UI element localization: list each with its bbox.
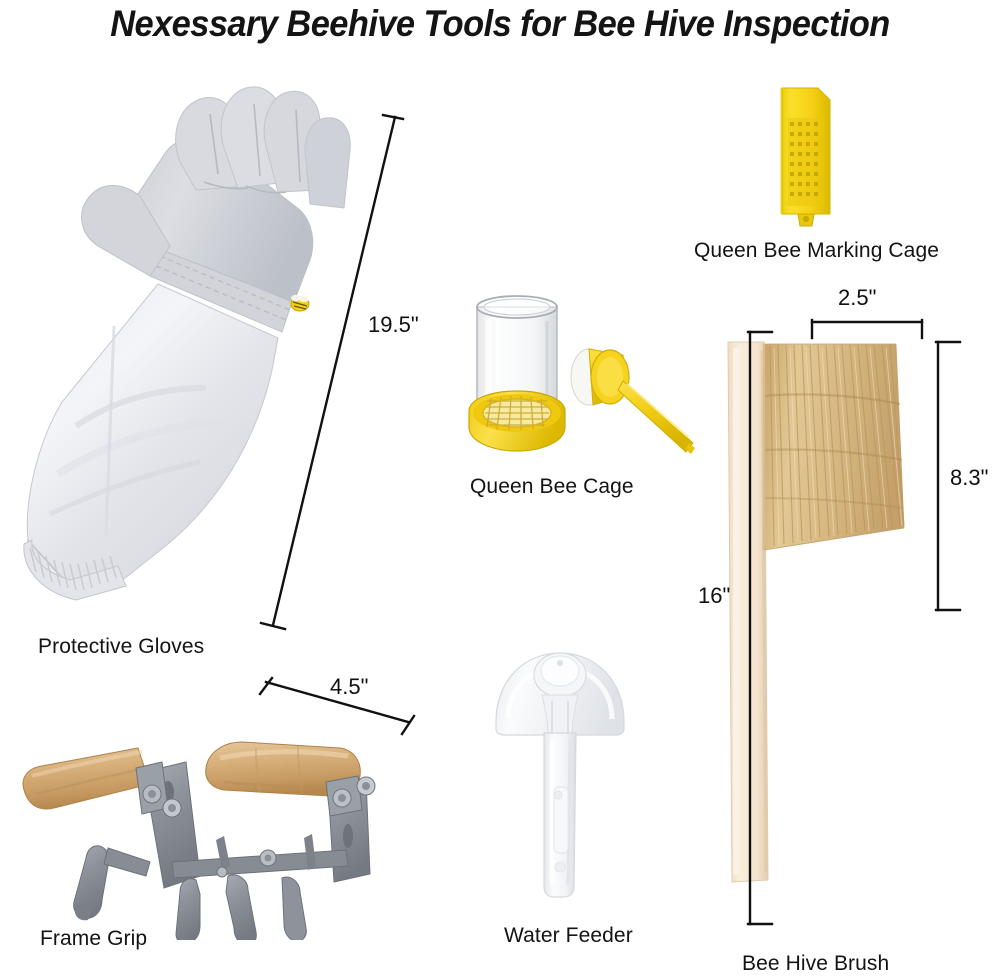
dimension-brush-head-width: 2.5" [838,285,876,311]
label-queen-bee-marking-cage: Queen Bee Marking Cage [694,239,939,263]
label-bee-hive-brush: Bee Hive Brush [742,952,889,976]
dimension-brush-bristle-height: 8.3" [950,465,988,491]
infographic-page: Nexessary Beehive Tools for Bee Hive Ins… [0,0,1000,977]
page-title: Nexessary Beehive Tools for Bee Hive Ins… [35,0,965,48]
marking-cage-icon [730,80,890,240]
water-feeder-icon [480,635,650,915]
dimension-line-brush-width [808,316,928,342]
label-protective-gloves: Protective Gloves [38,635,204,659]
label-frame-grip: Frame Grip [40,927,147,951]
dimension-frame-grip-width: 4.5" [330,674,368,700]
dimension-brush-total-length: 16" [698,583,730,609]
dimension-line-brush-length [744,328,774,928]
label-queen-bee-cage: Queen Bee Cage [470,475,634,499]
dimension-glove-length: 19.5" [368,312,419,338]
product-water-feeder [480,635,660,935]
product-queen-bee-marking-cage [690,80,940,260]
dimension-line-glove [255,105,415,645]
label-water-feeder: Water Feeder [504,924,633,948]
